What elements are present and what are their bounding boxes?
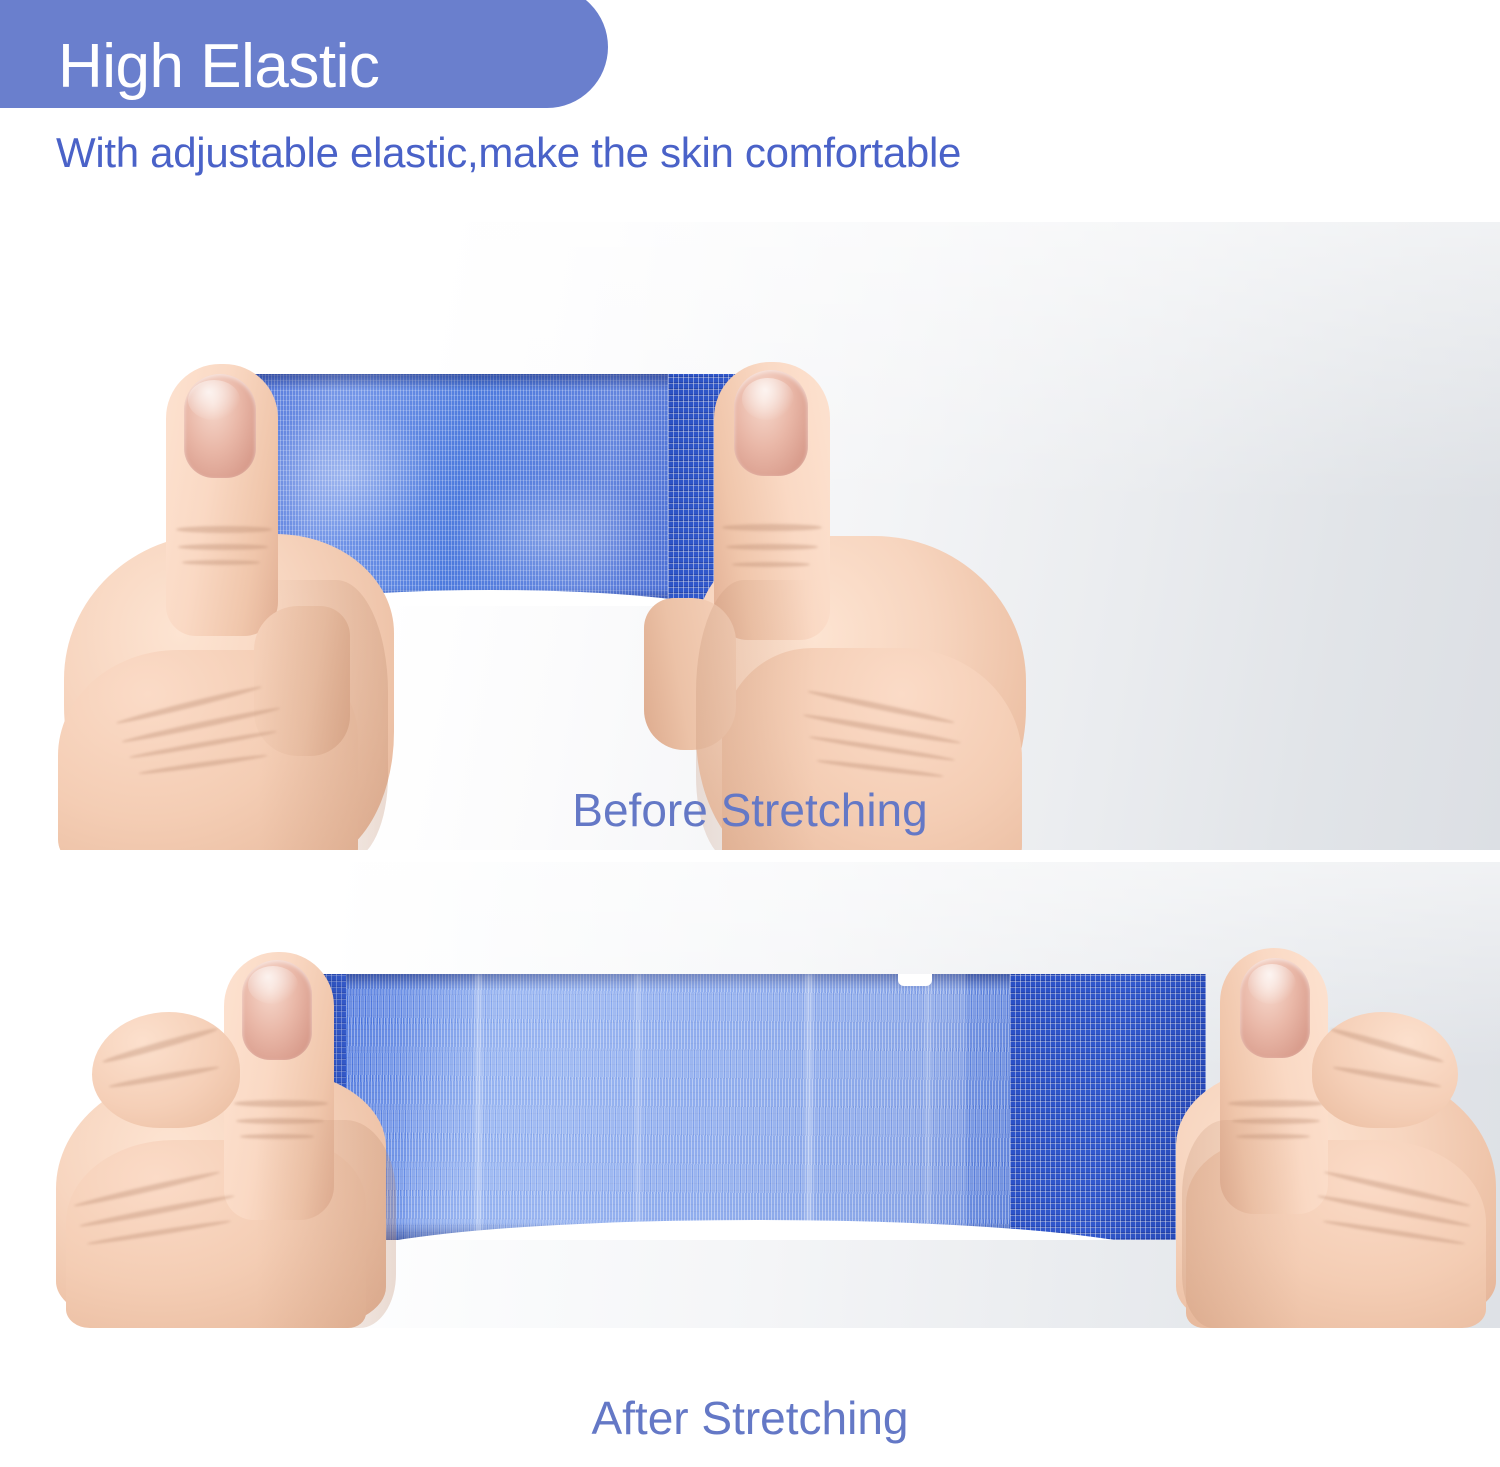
right-hand-icon [1136, 948, 1500, 1328]
page-title: High Elastic [58, 34, 379, 100]
subtitle-text: With adjustable elastic,make the skin co… [56, 128, 961, 178]
right-hand-icon [636, 348, 1056, 850]
photo-panel-after [0, 862, 1500, 1328]
caption-after-stretching: After Stretching [0, 1392, 1500, 1444]
caption-before-stretching: Before Stretching [0, 784, 1500, 836]
left-hand-icon [58, 350, 478, 850]
title-banner: High Elastic [0, 0, 608, 108]
photo-panel-before [0, 222, 1500, 850]
left-hand-icon [56, 950, 456, 1328]
product-feature-infographic: High Elastic With adjustable elastic,mak… [0, 0, 1500, 1467]
